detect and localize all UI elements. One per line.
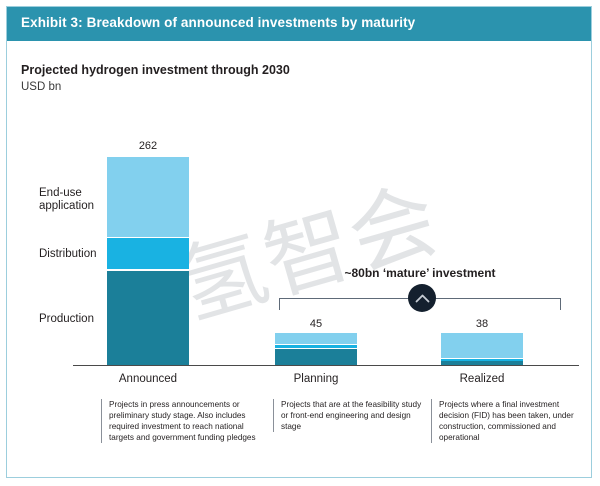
bar-value-planning: 45 — [275, 318, 357, 330]
x-axis-line — [73, 365, 579, 366]
bar-segment-distribution[interactable] — [275, 345, 357, 348]
exhibit-card: Exhibit 3: Breakdown of announced invest… — [6, 6, 592, 478]
chevron-up-icon — [408, 284, 436, 312]
bar-segment-distribution[interactable] — [107, 238, 189, 269]
category-label-realized: Realized — [441, 373, 523, 385]
series-label-production: Production — [39, 313, 94, 326]
series-label-distribution: Distribution — [39, 248, 97, 261]
series-label-end-use: End-useapplication — [39, 187, 94, 213]
bar-segment-end-use[interactable] — [441, 333, 523, 358]
mature-investment-annotation-label: ~80bn ‘mature’ investment — [279, 266, 561, 280]
exhibit-screenshot: Exhibit 3: Breakdown of announced invest… — [0, 0, 600, 486]
bar-segment-end-use[interactable] — [107, 157, 189, 237]
bar-value-realized: 38 — [441, 318, 523, 330]
bar-value-announced: 262 — [107, 140, 189, 152]
category-label-planning: Planning — [275, 373, 357, 385]
bar-announced[interactable] — [107, 157, 189, 365]
bar-segment-end-use[interactable] — [275, 333, 357, 344]
bar-segment-production[interactable] — [107, 271, 189, 365]
bar-chart-plot: End-useapplication Distribution Producti… — [7, 7, 591, 477]
bar-planning[interactable] — [275, 333, 357, 365]
category-label-announced: Announced — [107, 373, 189, 385]
bar-realized[interactable] — [441, 333, 523, 365]
bar-segment-production[interactable] — [275, 349, 357, 365]
